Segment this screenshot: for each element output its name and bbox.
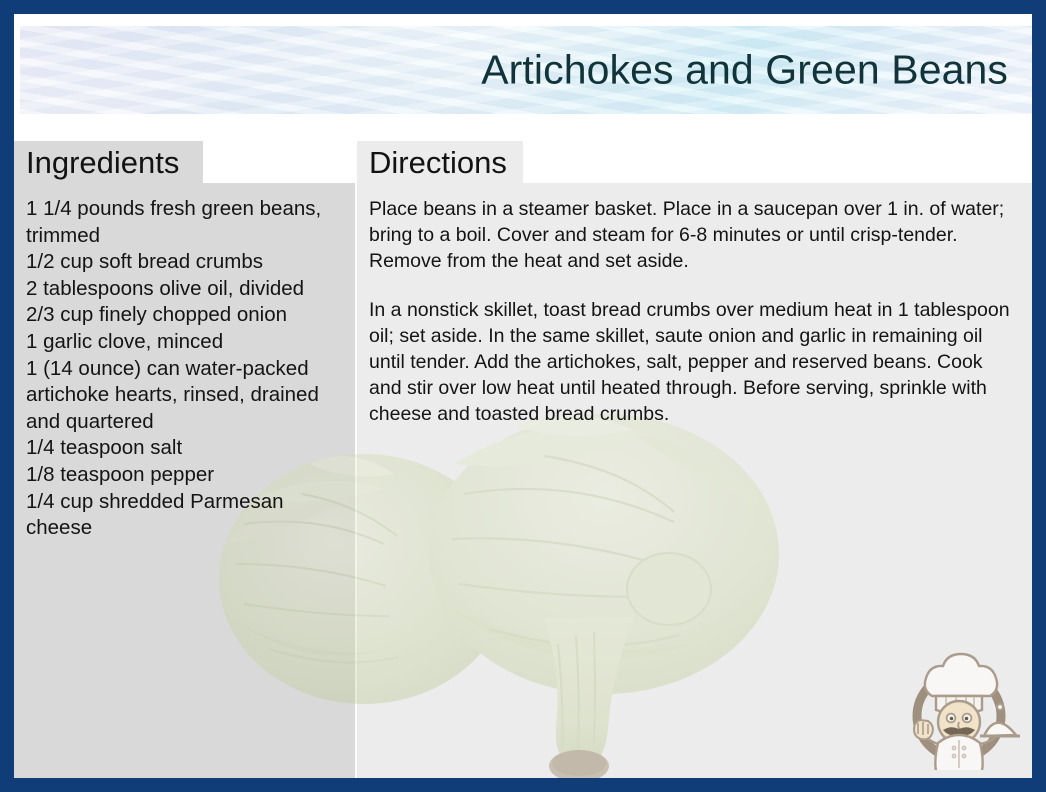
directions-heading-tab: Directions — [357, 141, 523, 183]
list-item: 2/3 cup finely chopped onion — [26, 302, 351, 329]
chef-body — [935, 735, 982, 770]
ingredients-list: 1 1/4 pounds fresh green beans, trimmed … — [26, 196, 351, 542]
list-item: 1 1/4 pounds fresh green beans, trimmed — [26, 196, 351, 249]
directions-content: Place beans in a steamer basket. Place i… — [369, 196, 1019, 428]
list-item: 1/8 teaspoon pepper — [26, 462, 351, 489]
list-item: 1/4 cup shredded Parmesan cheese — [26, 489, 351, 542]
list-item: 1/2 cup soft bread crumbs — [26, 249, 351, 276]
slide-canvas: Artichokes and Green Beans Ingredients D… — [14, 14, 1032, 778]
ingredients-heading-tab: Ingredients — [14, 141, 203, 183]
chef-logo — [898, 648, 1020, 770]
directions-heading: Directions — [369, 147, 507, 178]
directions-paragraph: Place beans in a steamer basket. Place i… — [369, 196, 1019, 275]
list-item: 1 garlic clove, minced — [26, 329, 351, 356]
directions-paragraph: In a nonstick skillet, toast bread crumb… — [369, 297, 1019, 428]
ingredients-content: 1 1/4 pounds fresh green beans, trimmed … — [26, 196, 351, 542]
page-title: Artichokes and Green Beans — [481, 48, 1008, 91]
recipe-slide: Artichokes and Green Beans Ingredients D… — [0, 0, 1046, 792]
list-item: 1 (14 ounce) can water-packed artichoke … — [26, 356, 351, 436]
title-banner: Artichokes and Green Beans — [20, 26, 1032, 114]
ingredients-heading: Ingredients — [26, 147, 179, 178]
list-item: 1/4 teaspoon salt — [26, 435, 351, 462]
list-item: 2 tablespoons olive oil, divided — [26, 276, 351, 303]
